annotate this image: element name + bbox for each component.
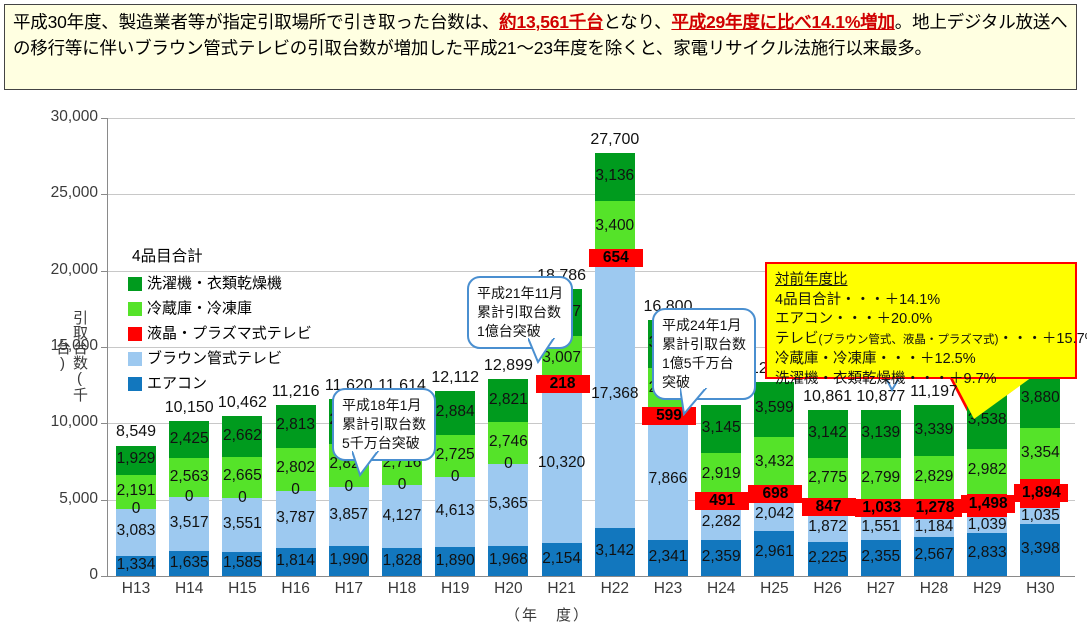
yoy-label-washer: 洗濯機・衣類乾燥機・・・ (775, 371, 949, 387)
y-tick (101, 576, 108, 577)
y-tick-label: 15,000 (28, 337, 98, 355)
yoy-label-aircon: エアコン・・・ (775, 311, 877, 327)
bar-value-label-h26-液晶・プラズマ式テレビ: 847 (802, 498, 856, 516)
bar-value-label-h13-洗濯機・衣類乾燥機: 1,929 (102, 450, 170, 468)
bar-value-label-h30-ブラウン管式テレビ: 1,035 (1006, 507, 1074, 525)
bar-column-h22[interactable] (595, 118, 635, 576)
legend-label-washer: 洗濯機・衣類乾燥機 (147, 271, 282, 296)
callout-h21-line2: 累計引取台数 (477, 303, 563, 322)
bar-value-label-h20-冷蔵庫・冷凍庫: 2,746 (474, 433, 542, 451)
legend-label-aircon: エアコン (147, 371, 207, 396)
bar-value-label-h30-液晶・プラズマ式テレビ: 1,894 (1014, 484, 1068, 502)
callout-h24-tail (680, 388, 720, 416)
yoy-label-tv: テレビ (775, 331, 819, 347)
bar-value-label-h28-液晶・プラズマ式テレビ: 1,278 (908, 499, 962, 517)
summary-text-b: となり、 (603, 12, 671, 32)
callout-h18-line1: 平成18年1月 (342, 396, 426, 415)
legend-swatch-crt-tv (128, 352, 142, 366)
legend-label-fridge: 冷蔵庫・冷凍庫 (147, 296, 252, 321)
summary-highlight-growth: 平成29年度に比べ14.1%増加 (671, 12, 894, 32)
callout-h18-line2: 累計引取台数 (342, 415, 426, 434)
bar-value-label-h21-ブラウン管式テレビ: 10,320 (528, 454, 596, 472)
summary-highlight-total: 約13,561千台 (499, 12, 603, 32)
yoy-row-aircon: エアコン・・・＋20.0% (775, 310, 1067, 330)
callout-h24: 平成24年1月 累計引取台数 1億5千万台 突破 (652, 308, 756, 400)
y-axis-title: 引取台数(千台) (8, 296, 88, 416)
legend-item-washer[interactable]: 洗濯機・衣類乾燥機 (128, 271, 312, 296)
summary-note: 平成30年度、製造業者等が指定引取場所で引き取った台数は、約13,561千台とな… (4, 4, 1077, 90)
y-tick-label: 20,000 (28, 261, 98, 279)
year-over-year-callout: 対前年度比 4品目合計・・・＋14.1% エアコン・・・＋20.0% テレビ(ブ… (765, 262, 1077, 379)
callout-h24-line1: 平成24年1月 (662, 316, 746, 335)
bar-value-label-h29-冷蔵庫・冷凍庫: 2,982 (953, 461, 1021, 479)
callout-h24-line3: 1億5千万台 (662, 354, 746, 373)
legend-label-crt-tv: ブラウン管式テレビ (147, 346, 282, 371)
yoy-row-fridge: 冷蔵庫・冷凍庫・・・＋12.5% (775, 350, 1067, 370)
bar-value-label-h22-冷蔵庫・冷凍庫: 3,400 (581, 217, 649, 235)
y-tick-label: 0 (28, 566, 98, 584)
bar-total-label-h22: 27,700 (572, 131, 658, 149)
bar-value-label-h27-液晶・プラズマ式テレビ: 1,033 (855, 499, 909, 517)
y-tick-label: 5,000 (28, 490, 98, 508)
legend-label-lcd-tv: 液晶・プラズマ式テレビ (147, 321, 312, 346)
legend-swatch-washer (128, 277, 142, 291)
legend-item-fridge[interactable]: 冷蔵庫・冷凍庫 (128, 296, 312, 321)
x-axis-line (107, 576, 1075, 577)
bar-value-label-h22-液晶・プラズマ式テレビ: 654 (589, 249, 643, 267)
bar-value-label-h20-ブラウン管式テレビ: 5,365 (474, 495, 542, 513)
yoy-row-total: 4品目合計・・・＋14.1% (775, 291, 1067, 311)
legend-title: 4品目合計 (132, 244, 312, 269)
y-tick-label: 10,000 (28, 413, 98, 431)
yoy-title: 対前年度比 (775, 271, 1067, 291)
yoy-value-fridge: ＋12.5% (920, 351, 976, 367)
callout-h21-tail (528, 338, 568, 364)
yoy-label-total: 4品目合計・・・ (775, 292, 885, 308)
yoy-row-washer: 洗濯機・衣類乾燥機・・・＋9.7% (775, 370, 1067, 390)
legend-swatch-lcd-tv (128, 327, 142, 341)
bar-value-label-h30-エアコン: 3,398 (1006, 540, 1074, 558)
bar-value-label-h24-洗濯機・衣類乾燥機: 3,145 (687, 419, 755, 437)
callout-h18-tail (352, 451, 392, 477)
callout-h21-line1: 平成21年11月 (477, 284, 563, 303)
legend-item-lcd-tv[interactable]: 液晶・プラズマ式テレビ (128, 321, 312, 346)
yoy-value-washer: ＋9.7% (949, 371, 997, 387)
y-tick (101, 118, 108, 119)
x-axis-title: （年 度） (505, 604, 590, 625)
bar-value-label-h30-冷蔵庫・冷凍庫: 3,354 (1006, 444, 1074, 462)
legend-swatch-fridge (128, 302, 142, 316)
y-tick (101, 271, 108, 272)
yoy-row-tv: テレビ(ブラウン管式、液晶・プラズマ式)・・・＋15.7% (775, 330, 1067, 351)
bar-value-label-h25-冷蔵庫・冷凍庫: 3,432 (740, 453, 808, 471)
yoy-value-tv: ・・・＋15.7% (998, 331, 1087, 347)
bar-value-label-h20-洗濯機・衣類乾燥機: 2,821 (474, 391, 542, 409)
summary-text-a: 平成30年度、製造業者等が指定引取場所で引き取った台数は、 (13, 12, 499, 32)
yoy-value-total: ＋14.1% (885, 292, 941, 308)
yoy-value-aircon: ＋20.0% (877, 311, 933, 327)
chart-legend: 4品目合計 洗濯機・衣類乾燥機 冷蔵庫・冷凍庫 液晶・プラズマ式テレビ ブラウン… (128, 244, 312, 396)
callout-h24-line2: 累計引取台数 (662, 335, 746, 354)
legend-swatch-aircon (128, 377, 142, 391)
recycling-bar-chart: 引取台数(千台) （年 度） 05,00010,00015,00020,0002… (0, 96, 1087, 633)
y-tick (101, 347, 108, 348)
x-tick-label-h30: H30 (1005, 580, 1075, 598)
y-tick-label: 30,000 (28, 108, 98, 126)
y-tick (101, 194, 108, 195)
bar-value-label-h25-液晶・プラズマ式テレビ: 698 (748, 485, 802, 503)
y-tick-label: 25,000 (28, 184, 98, 202)
yoy-label-fridge: 冷蔵庫・冷凍庫・・・ (775, 351, 920, 367)
legend-item-crt-tv[interactable]: ブラウン管式テレビ (128, 346, 312, 371)
yoy-label-tv-note: (ブラウン管式、液晶・プラズマ式) (819, 334, 999, 346)
legend-item-aircon[interactable]: エアコン (128, 371, 312, 396)
bar-value-label-h22-洗濯機・衣類乾燥機: 3,136 (581, 167, 649, 185)
